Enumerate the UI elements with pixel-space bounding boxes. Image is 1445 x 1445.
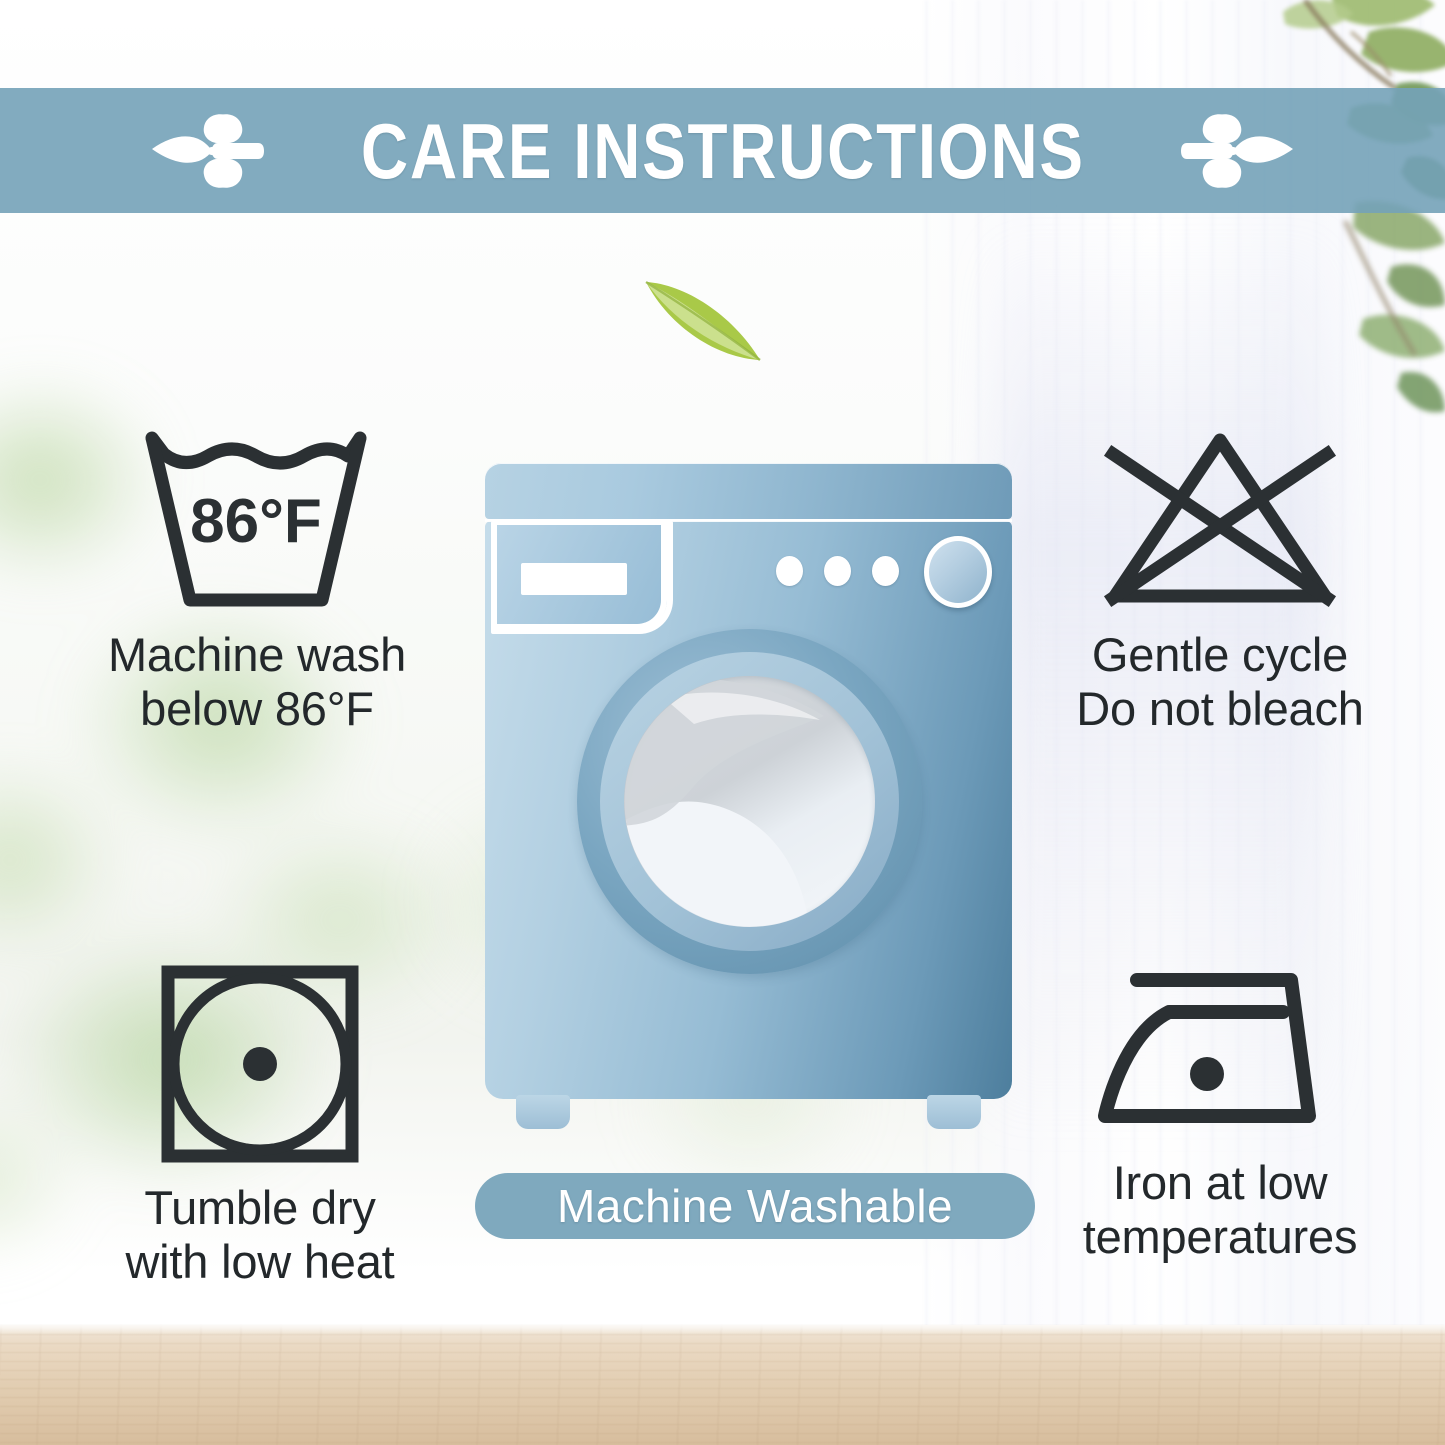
control-knob-face — [929, 541, 987, 603]
crossed-triangle-icon — [1089, 424, 1351, 614]
care-symbol-tumble-dry: Tumble dry with low heat — [30, 962, 490, 1288]
wash-temperature-value: 86°F — [190, 487, 322, 556]
care-instructions-infographic: CARE INSTRUCTIONS 86°F Machine wash belo… — [0, 0, 1445, 1445]
washer-foot-right — [927, 1095, 981, 1129]
indicator-light-2 — [824, 556, 851, 586]
care-symbol-caption-no-bleach: Gentle cycle Do not bleach — [1005, 628, 1435, 735]
leaf-icon — [640, 268, 770, 368]
leaf-branch-icon-lower — [1195, 195, 1445, 435]
tumble-dry-icon — [155, 962, 365, 1167]
page-title: CARE INSTRUCTIONS — [361, 112, 1085, 190]
care-symbol-iron-low: Iron at low temperatures — [1000, 962, 1440, 1263]
care-symbol-caption-tumble-dry: Tumble dry with low heat — [30, 1181, 490, 1288]
wooden-table-surface — [0, 1325, 1445, 1445]
care-symbol-caption-iron-low: Iron at low temperatures — [1000, 1156, 1440, 1263]
washing-machine-illustration — [481, 463, 1016, 1123]
care-symbol-machine-wash: 86°F Machine wash below 86°F — [22, 424, 492, 735]
iron-icon — [1095, 962, 1345, 1142]
wood-grain-texture — [0, 1325, 1445, 1445]
washer-foot-left — [516, 1095, 570, 1129]
machine-washable-label: Machine Washable — [557, 1179, 953, 1233]
fleur-de-lis-icon-left — [146, 105, 264, 197]
washer-door-highlight — [624, 676, 875, 927]
indicator-light-1 — [776, 556, 803, 586]
header-banner: CARE INSTRUCTIONS — [0, 88, 1445, 213]
detergent-drawer-handle — [521, 563, 627, 595]
control-knob — [924, 536, 992, 608]
fleur-de-lis-icon-right — [1181, 105, 1299, 197]
care-symbol-caption-machine-wash: Machine wash below 86°F — [22, 628, 492, 735]
machine-washable-badge: Machine Washable — [475, 1173, 1035, 1239]
care-symbol-no-bleach: Gentle cycle Do not bleach — [1005, 424, 1435, 735]
indicator-light-3 — [872, 556, 899, 586]
table-edge-highlight — [0, 1325, 1445, 1335]
wash-tub-icon: 86°F — [132, 424, 382, 614]
washer-top-lid — [485, 463, 1012, 519]
